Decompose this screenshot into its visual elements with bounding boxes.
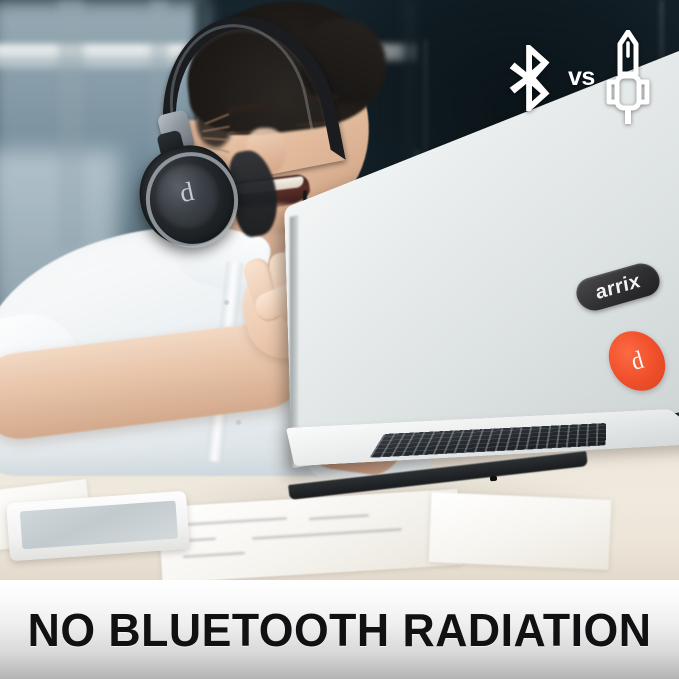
laptop: arrix d	[276, 206, 679, 506]
comparison-overlay: vs	[506, 28, 656, 128]
product-photo: d arrix d	[0, 0, 679, 580]
laptop-brand-label: arrix	[592, 270, 645, 304]
product-marketing-image: d arrix d	[0, 0, 679, 679]
headline-text: NO BLUETOOTH RADIATION	[28, 603, 652, 657]
laptop-sticker-glyph: d	[628, 347, 646, 375]
comparison-separator-label: vs	[568, 63, 595, 94]
laptop-port	[490, 476, 497, 482]
audio-jack-icon	[605, 30, 651, 126]
headline-banner: NO BLUETOOTH RADIATION	[0, 580, 679, 679]
bluetooth-icon	[506, 43, 558, 113]
